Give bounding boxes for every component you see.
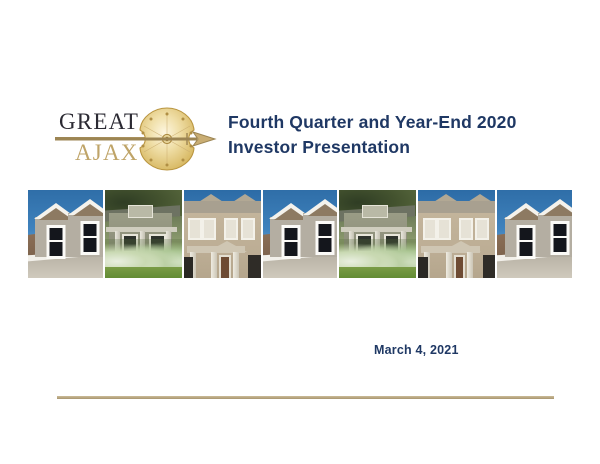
- bottom-divider: [57, 396, 554, 399]
- photo-garden-2: [339, 190, 416, 278]
- presentation-date: March 4, 2021: [374, 343, 459, 357]
- presentation-slide: GREAT AJAX: [0, 0, 600, 464]
- photo-garden-1: [105, 190, 182, 278]
- photo-twostory-2: [418, 190, 495, 278]
- arrow-icon: [55, 130, 220, 148]
- great-ajax-logo: GREAT AJAX: [55, 104, 220, 174]
- date-label: March 4, 2021: [374, 343, 459, 357]
- house-photo-strip: [28, 190, 572, 278]
- title-line-1: Fourth Quarter and Year-End 2020: [228, 110, 578, 135]
- photo-dormers-2: [263, 190, 338, 278]
- photo-dormers-3: [497, 190, 572, 278]
- photo-twostory-1: [184, 190, 261, 278]
- title-line-2: Investor Presentation: [228, 135, 578, 160]
- page-title: Fourth Quarter and Year-End 2020 Investo…: [228, 110, 578, 160]
- photo-dormers-1: [28, 190, 103, 278]
